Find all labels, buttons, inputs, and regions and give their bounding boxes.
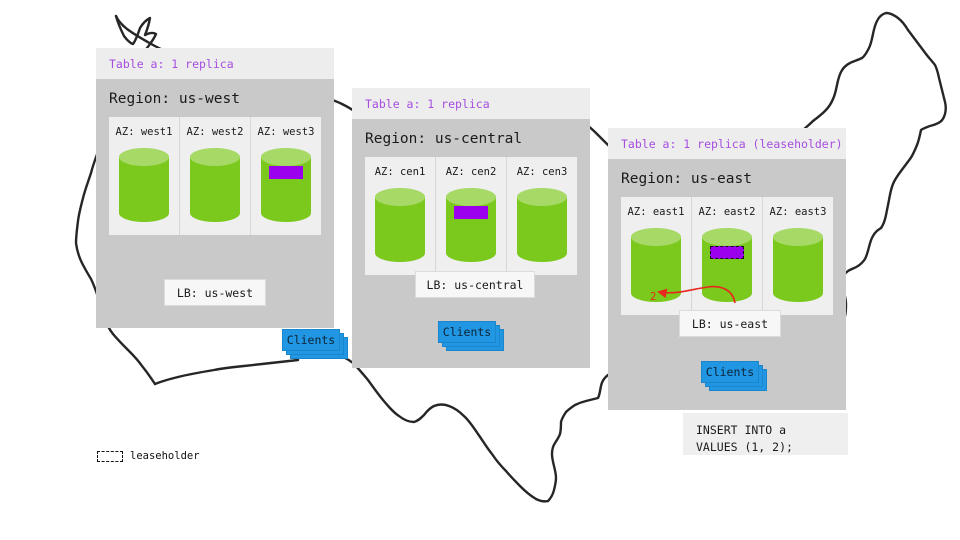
region-title-us-east: Region: us-east	[608, 159, 846, 197]
az-cell-east3[interactable]: AZ: east3	[762, 197, 833, 315]
cylinder-top	[773, 228, 823, 246]
node-cylinder-east3[interactable]	[773, 228, 823, 300]
cylinder-top	[375, 188, 425, 206]
cylinder-top	[446, 188, 496, 206]
az-strip-us-west: AZ: west1 AZ: west2 AZ: west3	[109, 117, 321, 235]
clients-stack-us-west[interactable]: Clients	[282, 329, 348, 359]
diagram-canvas: Table a: 1 replica Region: us-west AZ: w…	[0, 0, 960, 540]
legend-label: leaseholder	[130, 450, 200, 462]
az-cell-east2[interactable]: AZ: east2	[691, 197, 762, 315]
cylinder-top	[261, 148, 311, 166]
node-cylinder-west2[interactable]	[190, 148, 240, 220]
az-label: AZ: cen3	[517, 166, 568, 178]
panel-header-us-west: Table a: 1 replica	[96, 48, 334, 79]
leaseholder-marker-east2	[710, 246, 744, 259]
annotation-step-label: 2	[650, 291, 656, 303]
clients-stack-us-central[interactable]: Clients	[438, 321, 504, 351]
cylinder-top	[702, 228, 752, 246]
load-balancer-us-east[interactable]: LB: us-east	[679, 310, 781, 337]
region-title-us-central: Region: us-central	[352, 119, 590, 157]
region-panel-us-west[interactable]: Table a: 1 replica Region: us-west AZ: w…	[96, 48, 334, 328]
az-label: AZ: east2	[699, 206, 756, 218]
az-cell-cen1[interactable]: AZ: cen1	[365, 157, 435, 275]
replica-marker-cen2	[454, 206, 488, 219]
az-label: AZ: west3	[258, 126, 315, 138]
az-label: AZ: west2	[187, 126, 244, 138]
node-cylinder-west1[interactable]	[119, 148, 169, 220]
az-cell-west3[interactable]: AZ: west3	[250, 117, 321, 235]
az-label: AZ: cen1	[375, 166, 426, 178]
dashed-rect-icon	[97, 451, 123, 462]
sql-statement-box: INSERT INTO a VALUES (1, 2);	[683, 413, 848, 455]
az-label: AZ: cen2	[446, 166, 497, 178]
clients-stack-us-east[interactable]: Clients	[701, 361, 767, 391]
az-strip-us-central: AZ: cen1 AZ: cen2 AZ: cen3	[365, 157, 577, 275]
load-balancer-us-central[interactable]: LB: us-central	[415, 271, 535, 298]
node-cylinder-east2[interactable]	[702, 228, 752, 300]
region-panel-us-central[interactable]: Table a: 1 replica Region: us-central AZ…	[352, 88, 590, 368]
az-cell-cen2[interactable]: AZ: cen2	[435, 157, 506, 275]
node-cylinder-cen2[interactable]	[446, 188, 496, 260]
az-cell-west2[interactable]: AZ: west2	[179, 117, 250, 235]
cylinder-top	[119, 148, 169, 166]
node-cylinder-west3[interactable]	[261, 148, 311, 220]
cylinder-top	[190, 148, 240, 166]
node-cylinder-east1[interactable]	[631, 228, 681, 300]
legend: leaseholder	[97, 450, 200, 462]
replica-count-label: Table a: 1 replica	[365, 97, 490, 111]
panel-header-us-east: Table a: 1 replica (leaseholder)	[608, 128, 846, 159]
region-panel-us-east[interactable]: Table a: 1 replica (leaseholder) Region:…	[608, 128, 846, 410]
clients-button-us-west[interactable]: Clients	[282, 329, 340, 351]
az-label: AZ: east1	[628, 206, 685, 218]
region-title-us-west: Region: us-west	[96, 79, 334, 117]
clients-button-us-east[interactable]: Clients	[701, 361, 759, 383]
cylinder-top	[631, 228, 681, 246]
az-label: AZ: east3	[770, 206, 827, 218]
replica-marker-west3	[269, 166, 303, 179]
replica-count-label: Table a: 1 replica	[109, 57, 234, 71]
replica-count-label: Table a: 1 replica (leaseholder)	[621, 137, 843, 151]
clients-button-us-central[interactable]: Clients	[438, 321, 496, 343]
cylinder-top	[517, 188, 567, 206]
panel-header-us-central: Table a: 1 replica	[352, 88, 590, 119]
load-balancer-us-west[interactable]: LB: us-west	[164, 279, 266, 306]
az-cell-cen3[interactable]: AZ: cen3	[506, 157, 577, 275]
node-cylinder-cen3[interactable]	[517, 188, 567, 260]
node-cylinder-cen1[interactable]	[375, 188, 425, 260]
az-cell-west1[interactable]: AZ: west1	[109, 117, 179, 235]
az-label: AZ: west1	[116, 126, 173, 138]
